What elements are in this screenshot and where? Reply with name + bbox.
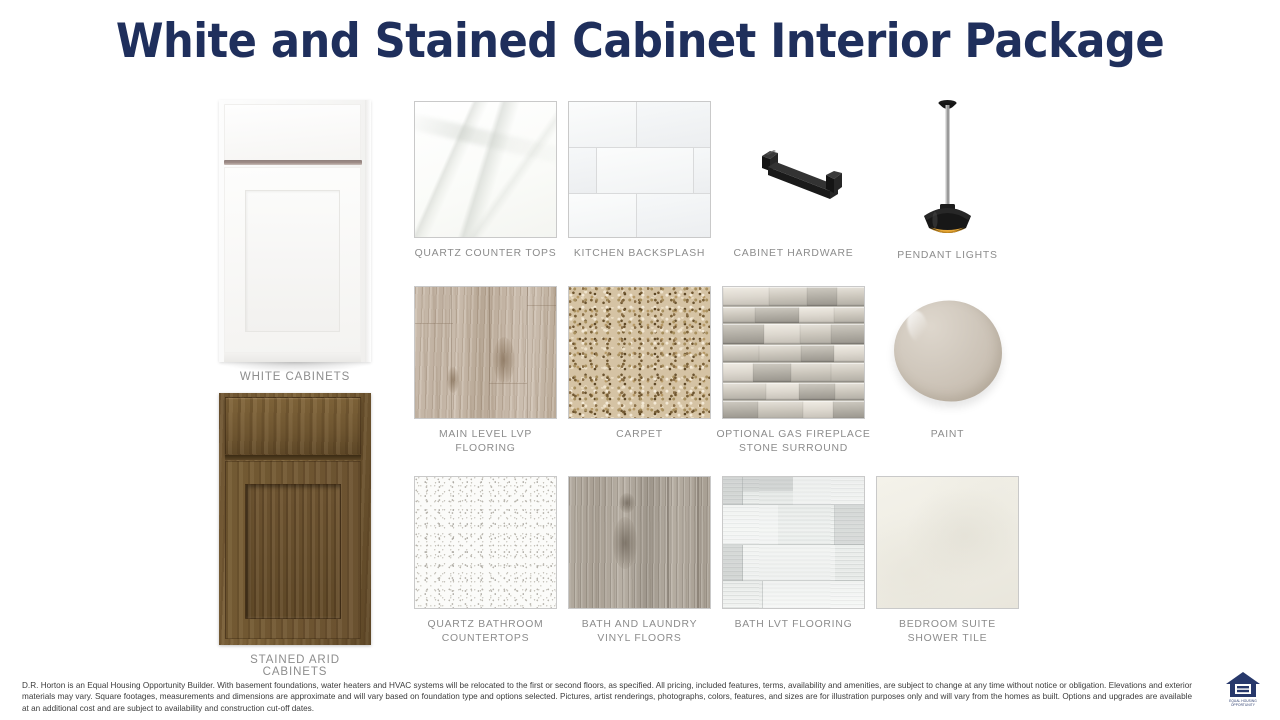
- caption-paint: PAINT: [870, 428, 1025, 442]
- paint-highlight: [902, 308, 933, 347]
- swatch-paint[interactable]: PAINT: [870, 282, 1025, 442]
- swatch-pendant-lights[interactable]: PENDANT LIGHTS: [870, 96, 1025, 263]
- main-level-lvp-flooring-image: [414, 286, 557, 419]
- tile-grout-line: [834, 505, 835, 545]
- tile-grout-line: [762, 581, 763, 609]
- plank-end-seam: [489, 383, 527, 384]
- stone-block: [791, 363, 832, 382]
- caption-line-2: STONE SURROUND: [739, 443, 848, 454]
- stone-block: [833, 401, 865, 419]
- stone-block: [723, 345, 760, 362]
- plank-seam: [527, 287, 528, 418]
- stone-block: [723, 287, 770, 306]
- legal-disclaimer: D.R. Horton is an Equal Housing Opportun…: [22, 680, 1192, 714]
- caption-line-2: VINYL FLOORS: [597, 633, 681, 644]
- swatch-bath-lvt-flooring[interactable]: BATH LVT FLOORING: [716, 476, 871, 632]
- caption-line-1: QUARTZ BATHROOM: [428, 619, 544, 630]
- stone-block: [723, 307, 756, 323]
- caption-line-2: SHOWER TILE: [908, 633, 988, 644]
- caption-main-level-lvp-flooring: MAIN LEVEL LVP FLOORING: [408, 428, 563, 455]
- bath-and-laundry-vinyl-floors-image: [568, 476, 711, 609]
- swatch-quartz-bathroom-countertops[interactable]: QUARTZ BATHROOM COUNTERTOPS: [408, 476, 563, 645]
- swatch-quartz-counter-tops[interactable]: QUARTZ COUNTER TOPS: [408, 101, 563, 261]
- caption-pendant-lights: PENDANT LIGHTS: [870, 249, 1025, 263]
- stone-block: [723, 401, 759, 419]
- stone-block: [835, 383, 865, 400]
- subway-tile: [569, 102, 636, 147]
- stone-block: [755, 307, 800, 323]
- subway-tile: [569, 194, 636, 238]
- swatch-cabinet-hardware[interactable]: CABINET HARDWARE: [716, 101, 871, 261]
- subway-tile: [637, 102, 710, 147]
- stone-block: [834, 307, 865, 323]
- subway-tile: [569, 148, 596, 193]
- caption-carpet: CARPET: [562, 428, 717, 442]
- lvt-tile: [723, 477, 743, 505]
- plank-seam: [667, 477, 669, 608]
- lvt-tile: [743, 545, 835, 581]
- caption-optional-gas-fireplace-stone-surround: OPTIONAL GAS FIREPLACE STONE SURROUND: [716, 428, 871, 455]
- stone-block: [834, 345, 865, 362]
- bath-lvt-flooring-image: [722, 476, 865, 609]
- swatch-main-level-lvp-flooring[interactable]: MAIN LEVEL LVP FLOORING: [408, 286, 563, 455]
- tile-grout-line: [723, 504, 865, 505]
- stone-block: [764, 324, 801, 344]
- plank-end-seam: [527, 305, 557, 306]
- pendant-lights-image: [876, 96, 1019, 238]
- stone-block: [837, 287, 865, 306]
- quartz-bathroom-countertops-image: [414, 476, 557, 609]
- plank-end-seam: [415, 323, 453, 324]
- stacked-stone-image: [722, 286, 865, 419]
- caption-quartz-bathroom-countertops: QUARTZ BATHROOM COUNTERTOPS: [408, 618, 563, 645]
- stone-block: [807, 287, 838, 306]
- stone-block: [803, 401, 834, 419]
- paint-blob: [894, 300, 1002, 401]
- stone-block: [799, 307, 835, 323]
- caption-bedroom-suite-shower-tile: BEDROOM SUITE SHOWER TILE: [870, 618, 1025, 645]
- caption-quartz-counter-tops: QUARTZ COUNTER TOPS: [408, 247, 563, 261]
- subway-tile: [694, 148, 710, 193]
- stone-block: [769, 287, 808, 306]
- plank-seam: [451, 287, 452, 418]
- quartz-counter-tops-image: [414, 101, 557, 238]
- bedroom-suite-shower-tile-image: [876, 476, 1019, 609]
- tile-grout-line: [742, 477, 743, 505]
- stone-block: [800, 324, 832, 344]
- lvt-tile: [793, 477, 865, 505]
- stone-block: [759, 345, 802, 362]
- stone-block: [801, 345, 835, 362]
- lvt-tile: [835, 505, 865, 545]
- carpet-image: [568, 286, 711, 419]
- wood-knot: [493, 337, 515, 383]
- stone-block: [723, 324, 765, 344]
- stone-block: [799, 383, 836, 400]
- lvt-tile: [743, 477, 793, 491]
- caption-bath-and-laundry-vinyl-floors: BATH AND LAUNDRY VINYL FLOORS: [562, 618, 717, 645]
- cabinet-hardware-image: [722, 101, 865, 238]
- material-swatch-grid: QUARTZ COUNTER TOPS KITCHEN BACKSPLASH: [0, 0, 1280, 720]
- wood-knot: [447, 367, 459, 393]
- stone-block: [831, 363, 865, 382]
- kitchen-backsplash-image: [568, 101, 711, 238]
- swatch-optional-gas-fireplace-stone-surround[interactable]: OPTIONAL GAS FIREPLACE STONE SURROUND: [716, 286, 871, 455]
- swatch-kitchen-backsplash[interactable]: KITCHEN BACKSPLASH: [562, 101, 717, 261]
- stone-block: [723, 363, 754, 382]
- paint-image: [876, 282, 1019, 419]
- caption-cabinet-hardware: CABINET HARDWARE: [716, 247, 871, 261]
- wood-knot: [613, 517, 637, 569]
- subway-tile: [637, 194, 710, 238]
- plank-seam: [697, 477, 699, 608]
- stone-block: [758, 401, 804, 419]
- subway-tile: [597, 148, 693, 193]
- caption-bath-lvt-flooring: BATH LVT FLOORING: [716, 618, 871, 632]
- tile-grout-line: [742, 545, 743, 581]
- stone-block: [753, 363, 792, 382]
- bar-pull-icon: [722, 101, 865, 238]
- pendant-lamp-icon: [876, 96, 1019, 238]
- equal-housing-opportunity-logo: EQUAL HOUSING OPPORTUNITY: [1224, 670, 1262, 710]
- lvt-tile: [763, 581, 865, 609]
- caption-line-1: OPTIONAL GAS FIREPLACE: [716, 429, 870, 440]
- stone-block: [723, 383, 767, 400]
- equal-housing-icon: [1224, 670, 1262, 700]
- wood-knot: [619, 493, 635, 513]
- caption-kitchen-backsplash: KITCHEN BACKSPLASH: [562, 247, 717, 261]
- lvt-tile: [723, 545, 743, 581]
- swatch-bedroom-suite-shower-tile[interactable]: BEDROOM SUITE SHOWER TILE: [870, 476, 1025, 645]
- stone-block: [766, 383, 800, 400]
- caption-line-2: COUNTERTOPS: [442, 633, 530, 644]
- swatch-carpet[interactable]: CARPET: [562, 286, 717, 442]
- swatch-bath-and-laundry-vinyl-floors[interactable]: BATH AND LAUNDRY VINYL FLOORS: [562, 476, 717, 645]
- caption-line-1: BEDROOM SUITE: [899, 619, 996, 630]
- tile-grout-line: [723, 580, 865, 581]
- stone-block: [831, 324, 865, 344]
- plank-seam: [489, 287, 490, 418]
- tile-grout-line: [723, 544, 865, 545]
- lvt-tile: [723, 505, 778, 545]
- equal-housing-logo-text: EQUAL HOUSING OPPORTUNITY: [1224, 699, 1262, 707]
- caption-line-1: BATH AND LAUNDRY: [582, 619, 698, 630]
